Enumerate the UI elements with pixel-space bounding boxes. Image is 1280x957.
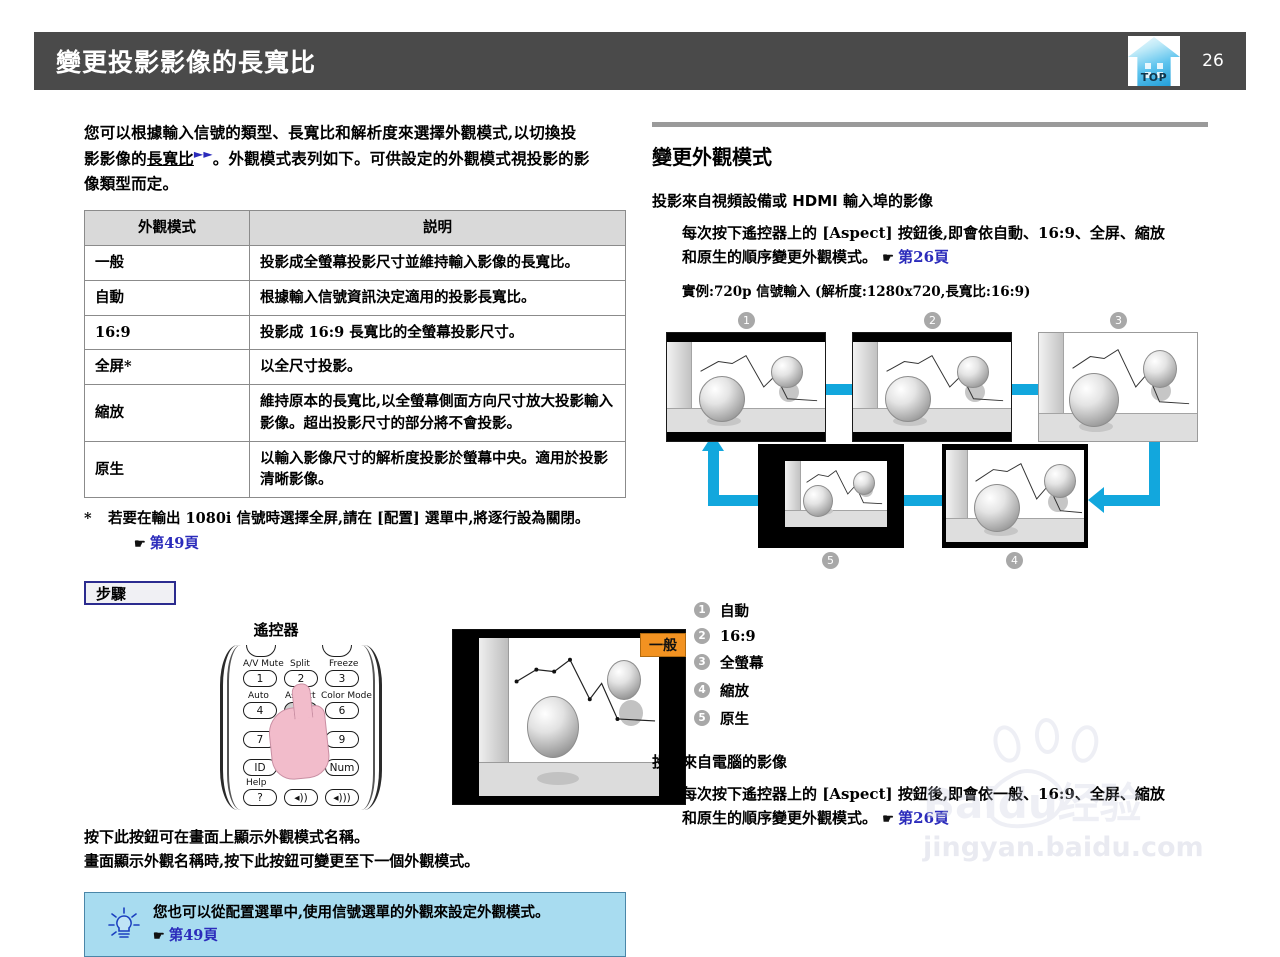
- window-glyph: [1145, 63, 1151, 69]
- computer-body-line-1: 每次按下遙控器上的 [Aspect] 按鈕後,即會依一般、16:9、全屏、縮放: [682, 782, 1208, 806]
- intro-line-2b: 。外觀模式表列如下。可供設定的外觀模式視投影的影: [213, 149, 590, 168]
- flow-number-4: 4: [1006, 552, 1023, 569]
- top-icon-label: TOP: [1141, 71, 1167, 84]
- legend-item: 5 原生: [694, 708, 1208, 729]
- flow-screen-2: [852, 332, 1012, 442]
- legend-label: 縮放: [720, 680, 749, 701]
- section-divider: [652, 122, 1208, 127]
- legend-number: 5: [694, 710, 710, 726]
- flow-screen-5: [758, 444, 904, 548]
- flow-number-5: 5: [822, 552, 839, 569]
- flow-arrow-to-4: [1104, 495, 1160, 506]
- remote-button-6[interactable]: 6: [325, 702, 359, 719]
- cell-description: 以全尺寸投影。: [250, 350, 626, 385]
- scene-zigzag-icon: [1039, 333, 1197, 441]
- screen-content: [853, 342, 1011, 432]
- page-title: 變更投影影像的長寬比: [56, 43, 316, 79]
- legend-label: 全螢幕: [720, 652, 764, 673]
- scene-sphere-small: [853, 471, 875, 495]
- flow-number-1: 1: [738, 312, 755, 329]
- pointing-hand-icon: ☛: [882, 251, 893, 266]
- right-column: 變更外觀模式 投影來自視頻設備或 HDMI 輸入埠的影像 每次按下遙控器上的 […: [652, 122, 1208, 831]
- scene-zigzag-icon: [667, 342, 825, 432]
- aspect-ratio-term[interactable]: 長寬比: [147, 149, 194, 168]
- footnote-reference[interactable]: ☛ 第49頁: [134, 533, 589, 555]
- intro-line-3: 像類型而定。: [84, 174, 178, 193]
- computer-body-line-2: 和原生的順序變更外觀模式。: [682, 809, 877, 827]
- remote-caption: 遙控器: [196, 619, 356, 640]
- table-header-row: 外觀模式 説明: [85, 211, 626, 246]
- subsection-heading-computer: 投影來自電腦的影像: [652, 751, 1208, 772]
- screen-content: [667, 342, 825, 432]
- flow-screen-4: [942, 444, 1088, 548]
- legend-item: 3 全螢幕: [694, 652, 1208, 673]
- scene-zigzag-icon: [853, 342, 1011, 432]
- step-badge-label: 步驟: [96, 583, 126, 604]
- cell-mode: 縮放: [85, 385, 250, 442]
- video-body-line-2: 和原生的順序變更外觀模式。: [682, 248, 877, 266]
- computer-ref-link[interactable]: 第26頁: [898, 809, 949, 827]
- tip-icon-wrap: [95, 906, 153, 942]
- tip-reference[interactable]: ☛ 第49頁: [153, 924, 550, 948]
- pointing-hand-icon: ☛: [153, 929, 164, 944]
- step-badge: 步驟: [84, 581, 176, 605]
- legend-number: 2: [694, 628, 710, 644]
- flow-number-2: 2: [924, 312, 941, 329]
- label-color-mode: Color Mode: [321, 691, 372, 701]
- projection-preview: 一般: [452, 629, 686, 805]
- cell-description: 維持原本的長寬比,以全螢幕側面方向尺寸放大投影輸入影像。超出投影尺寸的部分將不會…: [250, 385, 626, 442]
- video-body-line-1: 每次按下遙控器上的 [Aspect] 按鈕後,即會依自動、16:9、全屏、縮放: [682, 221, 1208, 245]
- label-help: Help: [246, 778, 267, 788]
- table-row: 縮放 維持原本的長寬比,以全螢幕側面方向尺寸放大投影輸入影像。超出投影尺寸的部分…: [85, 385, 626, 442]
- letterbox-bar-top: [853, 333, 1011, 342]
- remote-button-help[interactable]: ?: [243, 789, 277, 806]
- col-header-description: 説明: [250, 211, 626, 246]
- page-number: 26: [1180, 51, 1246, 71]
- remote-button-4[interactable]: 4: [243, 702, 277, 719]
- legend-number: 3: [694, 654, 710, 670]
- subsection-heading-video: 投影來自視頻設備或 HDMI 輸入埠的影像: [652, 190, 1208, 211]
- aspect-modes-table: 外觀模式 説明 一般 投影成全螢幕投影尺寸並維持輸入影像的長寬比。 自動 根據輸…: [84, 210, 626, 498]
- scene-sphere-small: [957, 356, 989, 388]
- letterbox-bar-top: [667, 333, 825, 342]
- intro-line-1: 您可以根據輸入信號的類型、長寬比和解析度來選擇外觀模式,以切換投: [84, 123, 576, 142]
- legend-label: 原生: [720, 708, 749, 729]
- cell-mode: 16:9: [85, 315, 250, 350]
- instruction-line-1: 按下此按鈕可在畫面上顯示外觀模式名稱。: [84, 825, 626, 849]
- tip-box: 您也可以從配置選單中,使用信號選單的外觀來設定外觀模式。 ☛ 第49頁: [84, 892, 626, 957]
- footnote: * 若要在輸出 1080i 信號時選擇全屏,請在 [配置] 選單中,將逐行設為關…: [84, 508, 626, 555]
- page-header: 變更投影影像的長寬比 TOP 26: [34, 32, 1246, 90]
- remote-button-1[interactable]: 1: [243, 670, 277, 687]
- video-ref-link[interactable]: 第26頁: [898, 248, 949, 266]
- label-split: Split: [290, 659, 310, 669]
- cell-description: 投影成全螢幕投影尺寸並維持輸入影像的長寬比。: [250, 246, 626, 281]
- section-heading: 變更外觀模式: [652, 141, 1208, 170]
- table-row: 全屏* 以全尺寸投影。: [85, 350, 626, 385]
- legend-item: 4 縮放: [694, 680, 1208, 701]
- flow-screen-1: [666, 332, 826, 442]
- scene-sphere-small: [1044, 464, 1076, 498]
- legend-number: 4: [694, 682, 710, 698]
- preview-sphere-small: [607, 660, 641, 700]
- preview-sphere-large: [527, 696, 579, 758]
- remote-button-3[interactable]: 3: [325, 670, 359, 687]
- flow-arrow-4-to-5: [902, 495, 942, 506]
- col-header-mode: 外觀模式: [85, 211, 250, 246]
- scene-sphere-large: [974, 484, 1020, 532]
- legend-label: 16:9: [720, 628, 756, 645]
- pointing-hand-icon: ☛: [882, 812, 893, 827]
- pointing-hand-icon: ☛: [134, 537, 145, 552]
- legend-item: 1 自動: [694, 600, 1208, 621]
- footnote-text: 若要在輸出 1080i 信號時選擇全屏,請在 [配置] 選單中,將逐行設為關閉。: [108, 508, 589, 530]
- window-glyph: [1157, 63, 1163, 69]
- left-column: 您可以根據輸入信號的類型、長寬比和解析度來選擇外觀模式,以切換投 影影像的長寬比…: [84, 120, 626, 957]
- computer-body-paragraph: 每次按下遙控器上的 [Aspect] 按鈕後,即會依一般、16:9、全屏、縮放 …: [682, 782, 1208, 831]
- video-body-paragraph: 每次按下遙控器上的 [Aspect] 按鈕後,即會依自動、16:9、全屏、縮放 …: [682, 221, 1208, 270]
- table-row: 原生 以輸入影像尺寸的解析度投影於螢幕中央。適用於投影清晰影像。: [85, 441, 626, 498]
- aspect-flow-diagram: 1 2: [652, 314, 1208, 594]
- label-auto: Auto: [248, 691, 269, 701]
- cell-description: 根據輸入信號資訊決定適用的投影長寬比。: [250, 280, 626, 315]
- instruction-line-2: 畫面顯示外觀名稱時,按下此按鈕可變更至下一個外觀模式。: [84, 849, 626, 873]
- remote-button-volume-down[interactable]: ◂)): [284, 789, 318, 806]
- letterbox-bar-bottom: [853, 432, 1011, 441]
- scene-sphere-small: [1143, 350, 1177, 388]
- glossary-marker-icon: ►►: [194, 147, 213, 161]
- example-text: 實例:720p 信號輸入 (解析度:1280x720,長寬比:16:9): [682, 280, 1208, 300]
- pointing-finger-illustration: [266, 704, 331, 782]
- tip-text-b: 選單的: [361, 904, 405, 921]
- legend-item: 2 16:9: [694, 628, 1208, 645]
- scene-sphere-large: [885, 376, 931, 422]
- letterbox-bar-bottom: [943, 542, 1087, 547]
- screen-content: [785, 461, 887, 527]
- table-row: 自動 根據輸入信號資訊決定適用的投影長寬比。: [85, 280, 626, 315]
- cell-mode: 原生: [85, 441, 250, 498]
- table-row: 一般 投影成全螢幕投影尺寸並維持輸入影像的長寬比。: [85, 246, 626, 281]
- flow-number-3: 3: [1110, 312, 1127, 329]
- cell-mode: 一般: [85, 246, 250, 281]
- label-av-mute: A/V Mute: [243, 659, 284, 669]
- flow-legend: 1 自動 2 16:9 3 全螢幕 4 縮放 5 原生: [694, 600, 1208, 729]
- scene-sphere-large: [699, 376, 745, 422]
- letterbox-bar-bottom: [667, 432, 825, 441]
- lightbulb-icon: [107, 906, 141, 942]
- top-icon[interactable]: TOP: [1128, 36, 1180, 86]
- cell-mode: 全屏*: [85, 350, 250, 385]
- flow-arrowhead-to-4: [1088, 487, 1104, 513]
- tip-bold-aspect: 外觀: [405, 904, 434, 921]
- tip-bold-signal: 信號: [332, 904, 361, 921]
- remote-button-9[interactable]: 9: [325, 731, 359, 748]
- legend-label: 自動: [720, 600, 749, 621]
- intro-line-2a: 影影像的: [84, 149, 147, 168]
- preview-screen-area: [479, 638, 659, 796]
- cell-description: 投影成 16:9 長寬比的全螢幕投影尺寸。: [250, 315, 626, 350]
- label-freeze: Freeze: [329, 659, 358, 669]
- footnote-marker: *: [84, 508, 98, 555]
- scene-sphere-large: [803, 485, 833, 517]
- tip-ref-link[interactable]: 第49頁: [169, 927, 218, 944]
- tip-text: 您也可以從配置選單中,使用信號選單的外觀來設定外觀模式。 ☛ 第49頁: [153, 901, 550, 948]
- header-right-group: TOP 26: [1128, 32, 1246, 90]
- tip-text-c: 來設定外觀模式。: [434, 904, 550, 921]
- table-row: 16:9 投影成 16:9 長寬比的全螢幕投影尺寸。: [85, 315, 626, 350]
- watermark-url-text: jingyan.baidu.com: [922, 832, 1204, 863]
- cell-description: 以輸入影像尺寸的解析度投影於螢幕中央。適用於投影清晰影像。: [250, 441, 626, 498]
- remote-and-preview: 遙控器 A/V Mute Split Freeze 1 2 3 Auto Asp…: [84, 623, 626, 813]
- remote-button-volume-up[interactable]: ◂))): [325, 789, 359, 806]
- screen-content: [1039, 333, 1197, 441]
- screen-content: [946, 450, 1084, 542]
- remote-control-illustration: A/V Mute Split Freeze 1 2 3 Auto Aspect …: [210, 645, 392, 810]
- flow-pipe-5-up: [708, 450, 719, 506]
- instruction-paragraph: 按下此按鈕可在畫面上顯示外觀模式名稱。 畫面顯示外觀名稱時,按下此按鈕可變更至下…: [84, 825, 626, 874]
- cell-mode: 自動: [85, 280, 250, 315]
- intro-paragraph: 您可以根據輸入信號的類型、長寬比和解析度來選擇外觀模式,以切換投 影影像的長寬比…: [84, 120, 626, 196]
- footnote-ref-link[interactable]: 第49頁: [150, 535, 199, 552]
- scene-zigzag-icon: [785, 461, 887, 527]
- scene-sphere-large: [1069, 373, 1119, 427]
- legend-number: 1: [694, 602, 710, 618]
- tip-text-a: 您也可以從配置選單中,使用: [153, 904, 332, 921]
- flow-screen-3: [1038, 332, 1198, 442]
- remote-button-num[interactable]: Num: [325, 759, 359, 776]
- scene-sphere-small: [771, 356, 803, 388]
